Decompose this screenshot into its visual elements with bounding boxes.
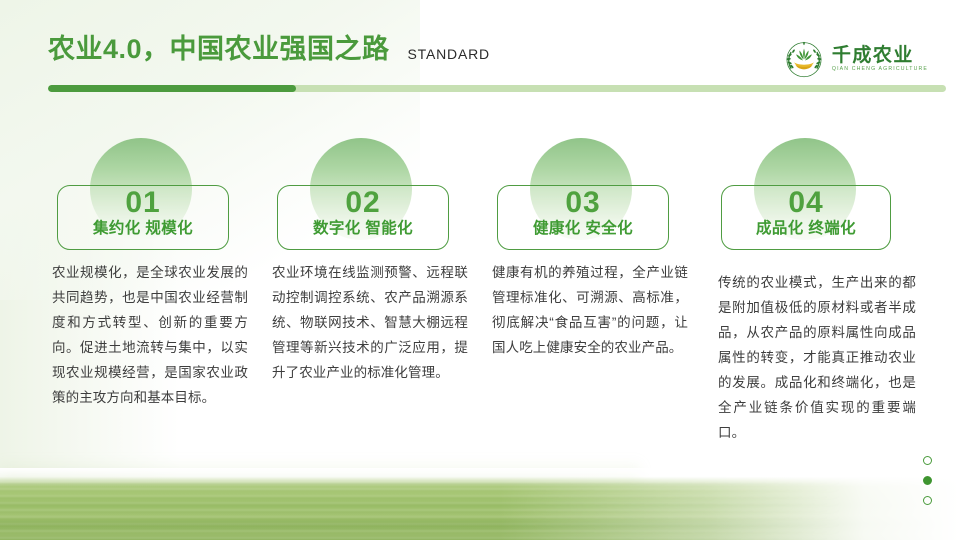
card-body-text: 传统的农业模式，生产出来的都是附加值极低的原材料或者半成品，从农产品的原料属性向…: [718, 270, 916, 445]
pager-dot-1[interactable]: [923, 456, 932, 465]
card-number: 02: [345, 187, 380, 219]
card-badge[interactable]: 03 健康化 安全化: [497, 185, 669, 250]
card-number: 03: [565, 187, 600, 219]
card-title: 集约化 规模化: [93, 221, 193, 237]
page-title: 农业4.0，中国农业强国之路: [48, 36, 390, 63]
card-badge[interactable]: 01 集约化 规模化: [57, 185, 229, 250]
brand-logo-text: 千成农业 QIAN CHENG AGRICULTURE: [832, 46, 928, 72]
card-title: 健康化 安全化: [533, 221, 633, 237]
header-rule-track: [48, 85, 946, 92]
pager-dots[interactable]: [923, 456, 932, 505]
card-title: 成品化 终端化: [756, 221, 856, 237]
slide-root: 农业4.0，中国农业强国之路 STANDARD: [0, 0, 960, 540]
brand-logo: 千成农业 QIAN CHENG AGRICULTURE: [783, 38, 928, 80]
card-number: 04: [788, 187, 823, 219]
card-title: 数字化 智能化: [313, 221, 413, 237]
card-badge[interactable]: 02 数字化 智能化: [277, 185, 449, 250]
brand-name-en: QIAN CHENG AGRICULTURE: [832, 67, 928, 72]
pager-dot-2-active[interactable]: [923, 476, 932, 485]
background-field-haze: [0, 460, 640, 494]
background-field-image: [0, 468, 960, 540]
card-body-text: 健康有机的养殖过程，全产业链管理标准化、可溯源、高标准，彻底解决“食品互害”的问…: [492, 260, 688, 360]
pager-dot-3[interactable]: [923, 496, 932, 505]
header-rule-fill: [48, 85, 296, 92]
wreath-sprout-emblem-icon: [783, 38, 825, 80]
card-badge[interactable]: 04 成品化 终端化: [721, 185, 891, 250]
card-body-text: 农业规模化，是全球农业发展的共同趋势，也是中国农业经营制度和方式转型、创新的重要…: [52, 260, 248, 410]
card-body-text: 农业环境在线监测预警、远程联动控制调控系统、农产品溯源系统、物联网技术、智慧大棚…: [272, 260, 468, 385]
brand-name-cn: 千成农业: [832, 46, 928, 65]
background-field-streaks: [0, 480, 960, 540]
card-number: 01: [125, 187, 160, 219]
page-subtitle: STANDARD: [408, 47, 490, 63]
